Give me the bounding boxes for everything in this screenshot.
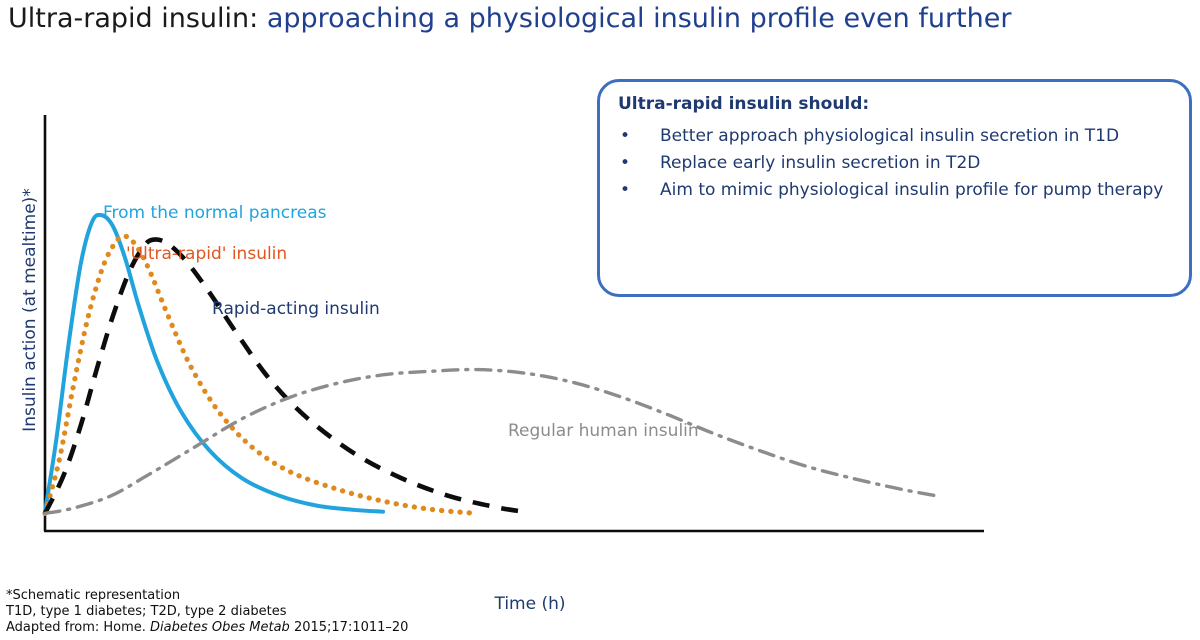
curve-ultra-rapid-insulin bbox=[45, 236, 477, 513]
callout-bullet-text: Better approach physiological insulin se… bbox=[660, 126, 1119, 146]
page-title: Ultra-rapid insulin: approaching a physi… bbox=[8, 2, 1012, 36]
footnote-source-post: 2015;17:1011–20 bbox=[290, 620, 409, 635]
callout-bullet-item: •Aim to mimic physiological insulin prof… bbox=[612, 178, 1179, 203]
callout-bullet-text: Aim to mimic physiological insulin profi… bbox=[660, 180, 1163, 200]
x-axis-label: Time (h) bbox=[420, 594, 640, 614]
series-label-normal-pancreas: From the normal pancreas bbox=[103, 203, 326, 223]
bullet-icon: • bbox=[620, 151, 630, 176]
callout-bullet-item: •Better approach physiological insulin s… bbox=[612, 124, 1179, 149]
callout-box: Ultra-rapid insulin should: •Better appr… bbox=[597, 79, 1192, 297]
callout-bullet-list: •Better approach physiological insulin s… bbox=[612, 124, 1179, 205]
curve-rapid-acting-insulin bbox=[45, 239, 524, 513]
page-title-secondary: approaching a physiological insulin prof… bbox=[258, 3, 1011, 34]
series-label-regular-human-insulin: Regular human insulin bbox=[508, 421, 699, 441]
footnote-source: Adapted from: Home. Diabetes Obes Metab … bbox=[6, 620, 408, 636]
series-label-rapid-acting-insulin: Rapid-acting insulin bbox=[212, 299, 380, 319]
footnote-journal-name: Diabetes Obes Metab bbox=[150, 620, 290, 635]
page-title-primary: Ultra-rapid insulin: bbox=[8, 3, 258, 34]
footnote-abbreviations: T1D, type 1 diabetes; T2D, type 2 diabet… bbox=[6, 604, 408, 620]
footnote-schematic: *Schematic representation bbox=[6, 588, 408, 604]
slide-root: Ultra-rapid insulin: approaching a physi… bbox=[0, 0, 1200, 640]
footnotes: *Schematic representation T1D, type 1 di… bbox=[6, 588, 408, 636]
y-axis-label: Insulin action (at mealtime)* bbox=[20, 160, 40, 460]
bullet-icon: • bbox=[620, 178, 630, 203]
footnote-source-pre: Adapted from: Home. bbox=[6, 620, 150, 635]
bullet-icon: • bbox=[620, 124, 630, 149]
curve-regular-human-insulin bbox=[45, 369, 937, 513]
callout-heading: Ultra-rapid insulin should: bbox=[618, 94, 869, 114]
callout-bullet-text: Replace early insulin secretion in T2D bbox=[660, 153, 980, 173]
callout-bullet-item: •Replace early insulin secretion in T2D bbox=[612, 151, 1179, 176]
series-label-ultra-rapid-insulin: 'Ultra-rapid' insulin bbox=[126, 244, 287, 264]
